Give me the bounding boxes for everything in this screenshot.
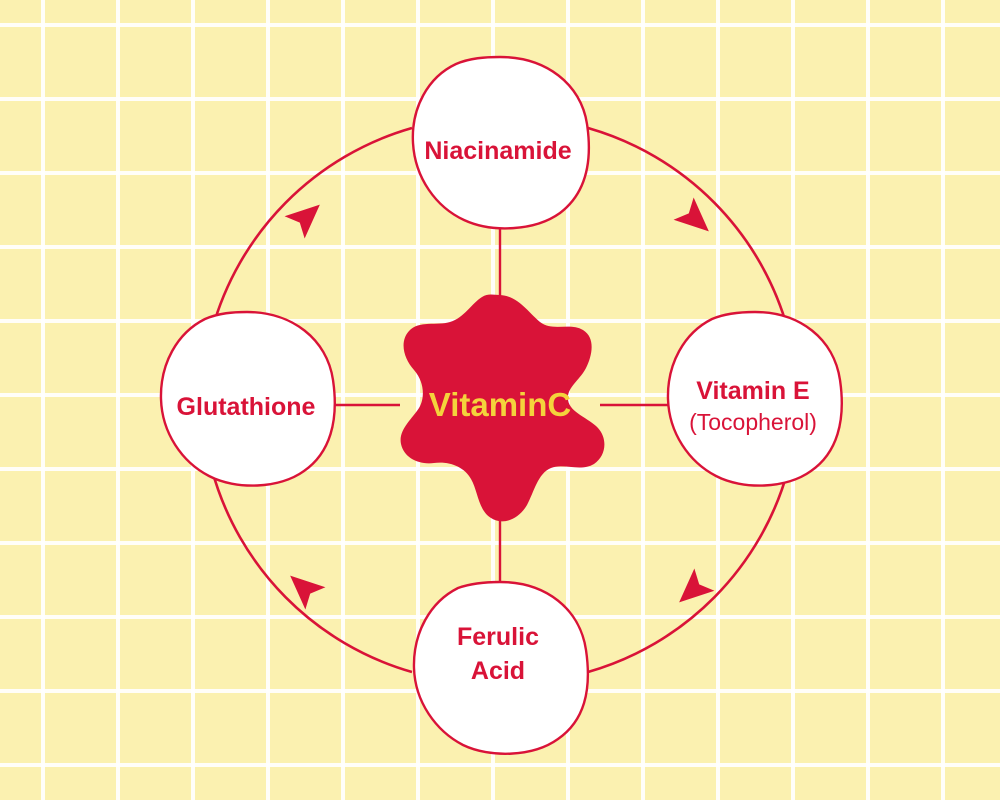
arc-glutathione-to-niacinamide xyxy=(212,128,412,330)
node-vitamin-e-label-line2: (Tocopherol) xyxy=(689,409,817,435)
node-vitamin-e[interactable]: Vitamin E (Tocopherol) xyxy=(668,312,842,486)
node-niacinamide[interactable]: Niacinamide xyxy=(413,57,589,228)
node-ferulic-acid[interactable]: Ferulic Acid xyxy=(414,582,588,754)
node-niacinamide-label-line1: Niacinamide xyxy=(424,137,571,165)
arc-ferulic-acid-to-glutathione xyxy=(212,470,412,672)
node-ferulic-acid-label-line2: Acid xyxy=(471,657,525,685)
arc-vitamin-e-to-ferulic-acid xyxy=(588,470,788,672)
arrowhead-icon-bottom-right xyxy=(669,568,714,613)
arc-niacinamide-to-vitamin-e xyxy=(588,128,788,330)
arrowhead-icon-top-right xyxy=(674,197,719,242)
node-vitamin-e-label-line1: Vitamin E xyxy=(696,377,809,405)
center-node-vitamin-c[interactable]: VitaminC xyxy=(401,295,605,522)
arrowhead-icon-top-left xyxy=(285,193,330,238)
arrowhead-icon-bottom-left xyxy=(280,564,325,609)
node-glutathione-label-line1: Glutathione xyxy=(177,393,316,421)
node-ferulic-acid-label-line1: Ferulic xyxy=(457,623,539,651)
diagram-canvas: VitaminC Niacinamide Vitamin E (Tocopher… xyxy=(0,0,1000,800)
vitamin-c-cycle-diagram: VitaminC Niacinamide Vitamin E (Tocopher… xyxy=(0,0,1000,800)
node-glutathione[interactable]: Glutathione xyxy=(161,312,335,486)
center-node-label: VitaminC xyxy=(429,386,571,423)
